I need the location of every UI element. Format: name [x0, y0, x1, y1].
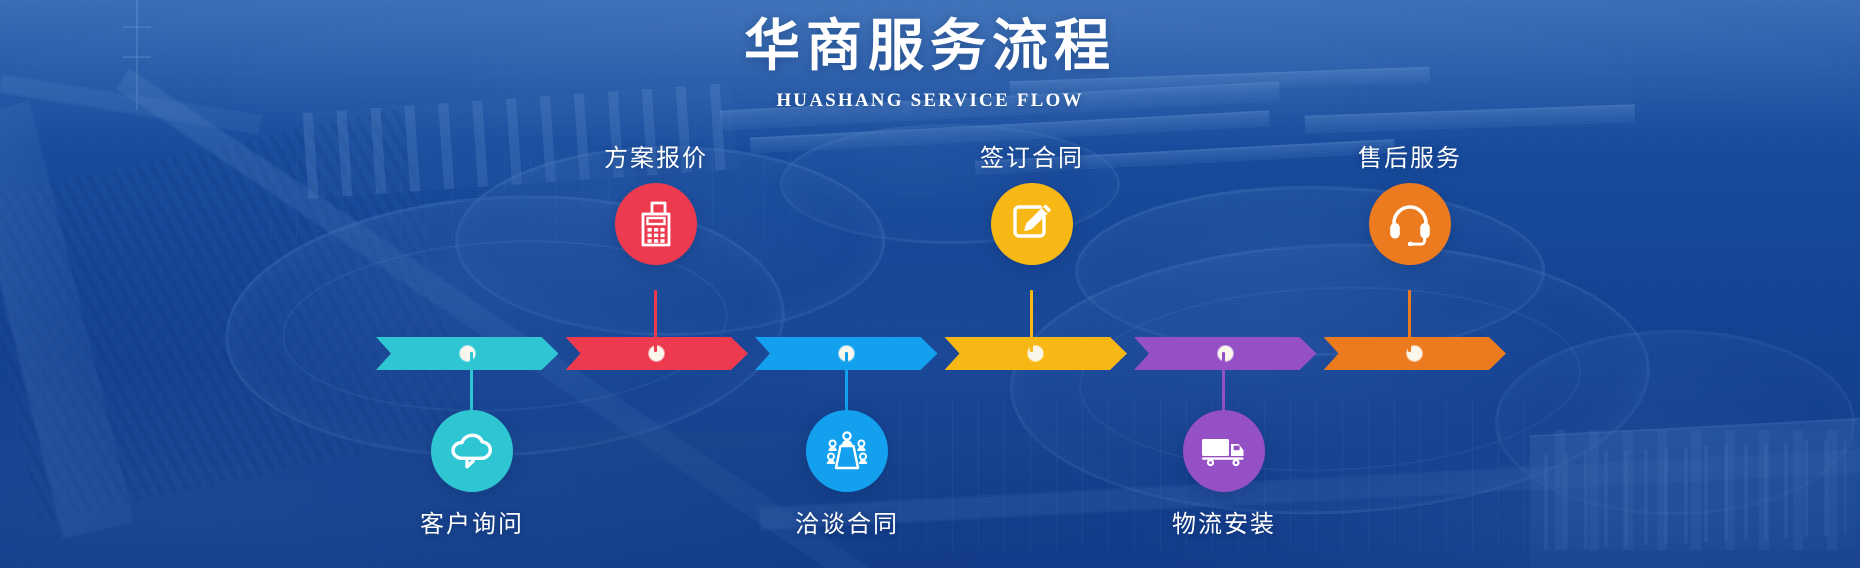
- flow-segment-6[interactable]: [1324, 337, 1507, 370]
- headset-icon: [1387, 202, 1433, 246]
- flow-step-2-label: 方案报价: [576, 138, 736, 173]
- flow-segment-4[interactable]: [945, 337, 1128, 370]
- flow-step-1[interactable]: 客户询问: [392, 410, 552, 539]
- pencil-sign-icon: [1009, 201, 1055, 247]
- flow-arrow-bar: [376, 337, 1506, 370]
- flow-step-6-bubble[interactable]: [1369, 183, 1451, 265]
- flow-step-6[interactable]: 售后服务: [1330, 138, 1490, 265]
- service-flow-banner: 华商服务流程 HUASHANG SERVICE FLOW: [0, 0, 1860, 568]
- flow-step-3-bubble[interactable]: [806, 410, 888, 492]
- flow-node-dot: [1218, 346, 1233, 361]
- flow-segment-1[interactable]: [376, 337, 559, 370]
- delivery-truck-icon: [1200, 434, 1248, 468]
- flow-step-4[interactable]: 签订合同: [952, 138, 1112, 265]
- flow-step-1-bubble[interactable]: [431, 410, 513, 492]
- flow-step-2[interactable]: 方案报价: [576, 138, 736, 265]
- flow-step-2-bubble[interactable]: [615, 183, 697, 265]
- flow-step-6-label: 售后服务: [1330, 138, 1490, 173]
- connector-stem-3: [845, 352, 848, 412]
- calculator-receipt-icon: [636, 200, 676, 248]
- connector-stem-6: [1408, 290, 1411, 352]
- flow-step-1-label: 客户询问: [392, 504, 552, 539]
- connector-stem-4: [1030, 290, 1033, 352]
- flow-step-3[interactable]: 洽谈合同: [767, 410, 927, 539]
- flow-segment-5[interactable]: [1134, 337, 1317, 370]
- meeting-table-icon: [823, 429, 871, 473]
- flow-step-5[interactable]: 物流安装: [1144, 410, 1304, 539]
- flow-step-3-label: 洽谈合同: [767, 504, 927, 539]
- flow-step-4-bubble[interactable]: [991, 183, 1073, 265]
- flow-step-5-label: 物流安装: [1144, 504, 1304, 539]
- connector-stem-5: [1222, 352, 1225, 412]
- flow-step-5-bubble[interactable]: [1183, 410, 1265, 492]
- connector-stem-1: [470, 352, 473, 412]
- chat-bubble-icon: [449, 431, 495, 471]
- flow-step-4-label: 签订合同: [952, 138, 1112, 173]
- connector-stem-2: [654, 290, 657, 352]
- flow-diagram: 客户询问 方案报价: [0, 0, 1860, 568]
